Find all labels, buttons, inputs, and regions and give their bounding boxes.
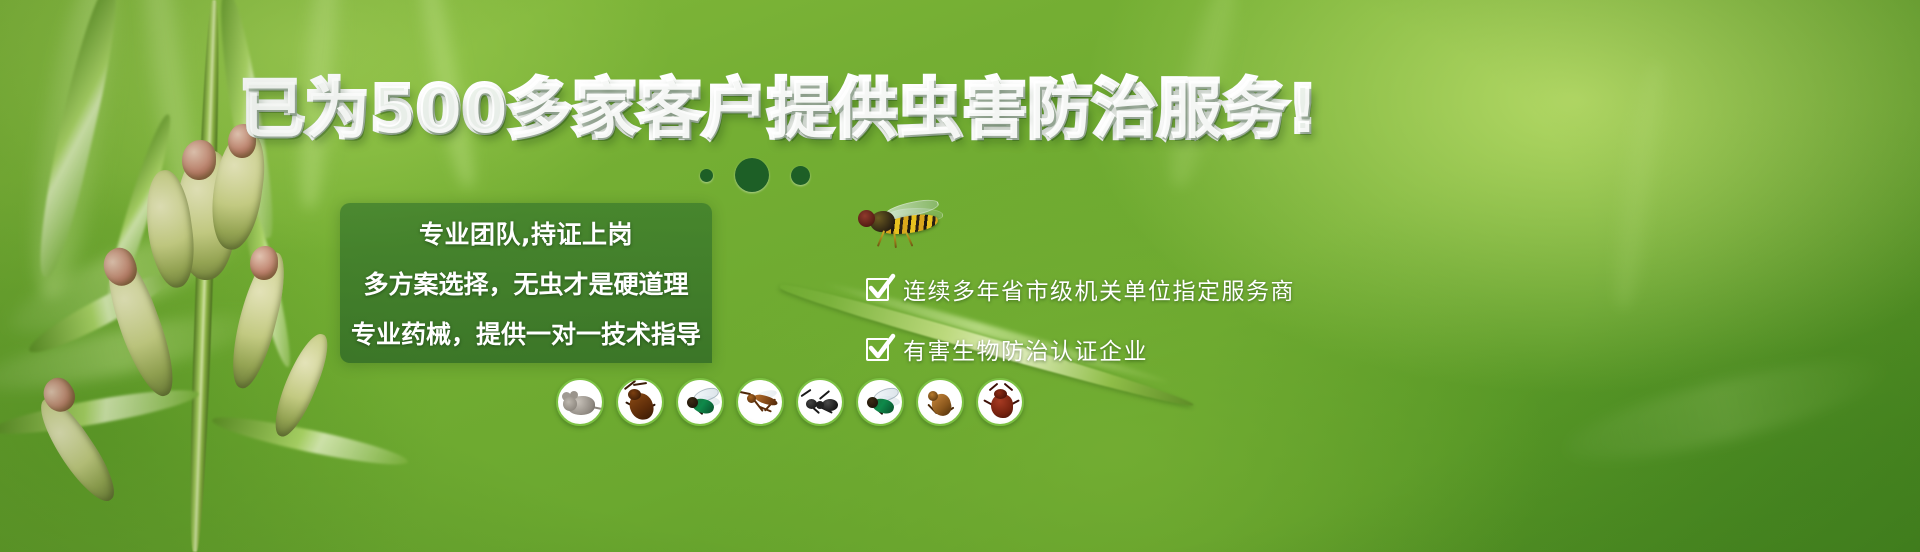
pest-icon-bedbug[interactable]: [976, 378, 1024, 426]
pest-icon-greenbottle[interactable]: [856, 378, 904, 426]
headline-text: 已为500多家客户提供虫害防治服务!: [241, 73, 1319, 146]
checkbox-checked-icon: [866, 338, 889, 361]
decor-dot-large: [735, 158, 769, 192]
panel-line-3: 专业药械，提供一对一技术指导: [351, 315, 701, 351]
pest-icon-flea[interactable]: [916, 378, 964, 426]
background-grass-blade: [1603, 58, 1677, 311]
credential-text: 连续多年省市级机关单位指定服务商: [903, 272, 1295, 306]
decor-dots: [700, 158, 810, 192]
page-title: 已为500多家客户提供虫害防治服务!: [0, 78, 1560, 141]
list-item: 有害生物防治认证企业: [866, 332, 1295, 366]
hoverfly-image: [850, 196, 960, 254]
list-item: 连续多年省市级机关单位指定服务商: [866, 272, 1295, 306]
pest-icon-mouse[interactable]: [556, 378, 604, 426]
pest-icon-mosquito[interactable]: [736, 378, 784, 426]
background-grass-blade: [1558, 341, 1893, 479]
pest-icon-cockroach[interactable]: [616, 378, 664, 426]
pest-icon-fly[interactable]: [676, 378, 724, 426]
features-panel: 专业团队,持证上岗 多方案选择，无虫才是硬道理 专业药械，提供一对一技术指导: [340, 203, 712, 363]
panel-line-2: 多方案选择，无虫才是硬道理: [363, 265, 688, 301]
credentials-list: 连续多年省市级机关单位指定服务商 有害生物防治认证企业: [866, 272, 1295, 366]
decor-dot-medium: [791, 166, 810, 185]
pest-icon-ant[interactable]: [796, 378, 844, 426]
checkbox-checked-icon: [866, 278, 889, 301]
credential-text: 有害生物防治认证企业: [903, 332, 1148, 366]
panel-line-1: 专业团队,持证上岗: [419, 215, 633, 251]
pest-control-banner: 已为500多家客户提供虫害防治服务! 专业团队,持证上岗 多方案选择，无虫才是硬…: [0, 0, 1920, 552]
decor-dot-small: [700, 169, 713, 182]
pest-icon-row: [556, 378, 1024, 426]
